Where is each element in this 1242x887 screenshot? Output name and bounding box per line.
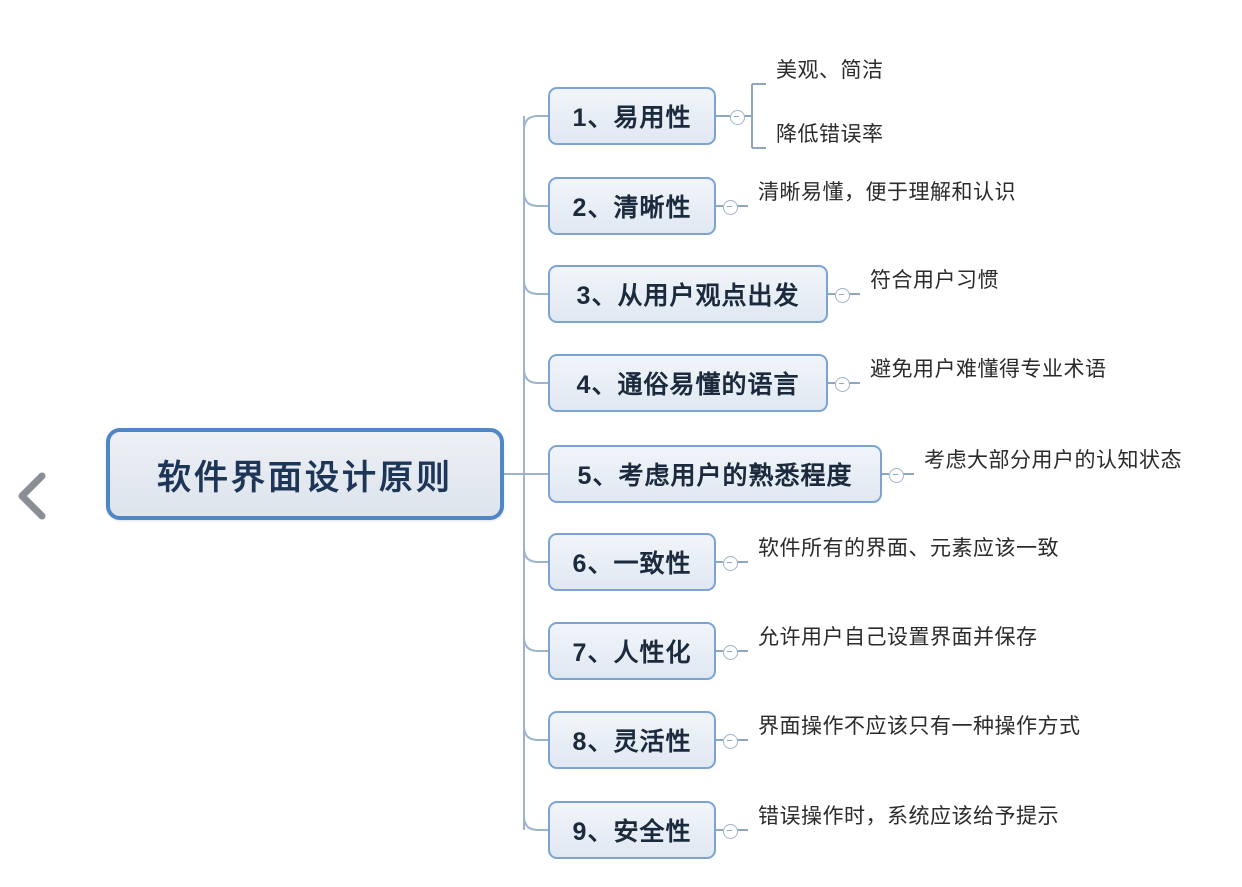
branch-node-6-label: 6、一致性	[573, 544, 692, 580]
leaf-item-7-1[interactable]: 允许用户自己设置界面并保存	[748, 622, 1060, 654]
collapse-toggle-4[interactable]	[835, 377, 850, 392]
branch-node-1[interactable]: 1、易用性	[548, 87, 716, 145]
branch-node-7-label: 7、人性化	[573, 633, 692, 669]
leaf-item-2-1[interactable]: 清晰易懂，便于理解和认识	[748, 177, 1038, 209]
branch-node-2-label: 2、清晰性	[573, 188, 692, 224]
leaf-item-7-1-label: 允许用户自己设置界面并保存	[748, 621, 1060, 654]
leaf-item-1-2-label: 降低错误率	[766, 118, 888, 151]
collapse-toggle-3[interactable]	[835, 288, 850, 303]
branch-node-8-label: 8、灵活性	[573, 722, 692, 758]
branch-node-9-label: 9、安全性	[573, 812, 692, 848]
collapse-toggle-2[interactable]	[723, 200, 738, 215]
collapse-toggle-6[interactable]	[723, 556, 738, 571]
leaf-item-9-1-label: 错误操作时，系统应该给予提示	[748, 800, 1074, 833]
branch-node-8[interactable]: 8、灵活性	[548, 711, 716, 769]
collapse-toggle-5[interactable]	[889, 468, 904, 483]
leaf-item-4-1-label: 避免用户难懂得专业术语	[860, 353, 1124, 386]
collapse-toggle-1[interactable]	[730, 110, 745, 125]
leaf-item-3-1-label: 符合用户习惯	[860, 264, 1018, 297]
collapse-toggle-9[interactable]	[723, 824, 738, 839]
leaf-item-6-1-label: 软件所有的界面、元素应该一致	[748, 532, 1078, 565]
root-node-label: 软件界面设计原则	[157, 450, 453, 499]
leaf-item-1-2[interactable]: 降低错误率	[766, 119, 888, 151]
chevron-left-icon[interactable]	[12, 470, 52, 522]
leaf-item-6-1[interactable]: 软件所有的界面、元素应该一致	[748, 533, 1078, 565]
leaf-item-5-1[interactable]: 考虑大部分用户的认知状态	[914, 445, 1204, 477]
branch-node-4[interactable]: 4、通俗易懂的语言	[548, 354, 828, 412]
branch-node-3-label: 3、从用户观点出发	[577, 276, 800, 312]
mindmap-canvas: 软件界面设计原则 1、易用性 美观、简洁 降低错误率 2、清晰性 清晰易懂，便于…	[0, 0, 1242, 887]
leaf-item-3-1[interactable]: 符合用户习惯	[860, 265, 1018, 297]
branch-node-9[interactable]: 9、安全性	[548, 801, 716, 859]
leaf-item-8-1[interactable]: 界面操作不应该只有一种操作方式	[748, 711, 1100, 743]
branch-node-7[interactable]: 7、人性化	[548, 622, 716, 680]
branch-node-4-label: 4、通俗易懂的语言	[577, 365, 800, 401]
collapse-toggle-8[interactable]	[723, 734, 738, 749]
leaf-item-8-1-label: 界面操作不应该只有一种操作方式	[748, 710, 1100, 743]
branch-node-6[interactable]: 6、一致性	[548, 533, 716, 591]
root-node[interactable]: 软件界面设计原则	[106, 428, 504, 520]
branch-node-5[interactable]: 5、考虑用户的熟悉程度	[548, 445, 882, 503]
collapse-toggle-7[interactable]	[723, 645, 738, 660]
leaf-item-5-1-label: 考虑大部分用户的认知状态	[914, 444, 1204, 477]
leaf-item-1-1[interactable]: 美观、简洁	[766, 55, 888, 87]
leaf-item-4-1[interactable]: 避免用户难懂得专业术语	[860, 354, 1124, 386]
leaf-item-2-1-label: 清晰易懂，便于理解和认识	[748, 176, 1038, 209]
branch-node-1-label: 1、易用性	[573, 98, 692, 134]
branch-node-5-label: 5、考虑用户的熟悉程度	[578, 456, 853, 492]
branch-node-2[interactable]: 2、清晰性	[548, 177, 716, 235]
branch-node-3[interactable]: 3、从用户观点出发	[548, 265, 828, 323]
leaf-item-1-1-label: 美观、简洁	[766, 54, 888, 87]
leaf-item-9-1[interactable]: 错误操作时，系统应该给予提示	[748, 801, 1074, 833]
